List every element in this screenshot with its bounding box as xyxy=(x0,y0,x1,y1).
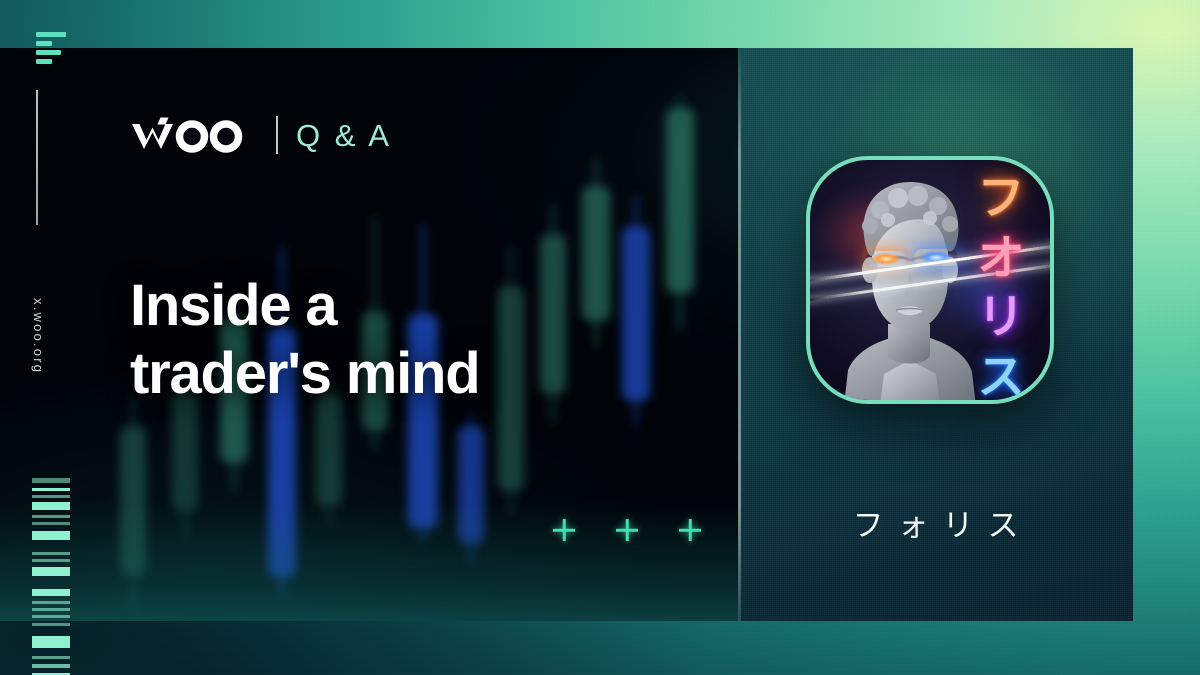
kana-glyph: フ xyxy=(978,174,1025,221)
candlestick xyxy=(666,96,694,621)
candlestick-body xyxy=(316,394,342,506)
kana-glyph: オ xyxy=(978,234,1025,281)
candlestick-body xyxy=(582,186,610,321)
barcode-bar xyxy=(32,615,70,618)
barcode-bar xyxy=(32,531,70,540)
candlestick-body xyxy=(458,426,484,544)
plus-icon xyxy=(553,519,575,541)
barcode-bar xyxy=(32,664,70,668)
poster-canvas: x.woo.org Q & A Inside a trader's mind xyxy=(0,0,1200,675)
kana-glyph: リ xyxy=(978,293,1025,340)
candlestick xyxy=(582,96,610,621)
rail-divider-line xyxy=(36,90,38,225)
candlestick-body xyxy=(172,391,198,511)
barcode-bar xyxy=(32,589,70,596)
left-eye-neon-glow xyxy=(866,251,906,267)
barcode-bar xyxy=(32,552,70,555)
candlestick-body xyxy=(540,234,566,394)
barcode-bar xyxy=(32,656,70,659)
candlestick xyxy=(498,96,524,621)
headline-line-2: trader's mind xyxy=(130,340,480,408)
candlestick xyxy=(622,96,650,621)
candlestick-body xyxy=(498,286,524,491)
section-label: Q & A xyxy=(296,120,392,151)
barcode-bar xyxy=(32,478,70,483)
barcode-bar xyxy=(32,515,70,518)
barcode-bar xyxy=(32,567,70,576)
woo-bars-mark-icon xyxy=(36,32,66,68)
kana-glyph: ス xyxy=(978,353,1025,400)
brand-lockup: Q & A xyxy=(130,115,392,155)
barcode-bar xyxy=(32,495,70,498)
barcode-bar xyxy=(32,488,70,491)
guest-name-caption: フォリス xyxy=(738,500,1133,545)
plus-icon xyxy=(616,519,638,541)
brand-separator xyxy=(276,116,278,154)
barcode-bar xyxy=(32,636,70,648)
page-title: Inside a trader's mind xyxy=(130,272,480,408)
barcode-bar xyxy=(32,601,70,604)
candlestick-body xyxy=(666,108,694,293)
plus-icon xyxy=(679,519,701,541)
barcode-bar xyxy=(32,608,70,611)
decorative-barcode-icon xyxy=(32,478,70,675)
woo-wordmark-icon xyxy=(130,115,258,155)
candlestick-body xyxy=(622,226,650,401)
site-url-vertical: x.woo.org xyxy=(31,298,46,374)
plus-marks-decor xyxy=(553,519,701,541)
candlestick-body xyxy=(120,426,146,576)
barcode-bar xyxy=(32,559,70,562)
headline-line-1: Inside a xyxy=(130,272,480,340)
barcode-bar xyxy=(32,623,70,626)
candlestick xyxy=(540,96,566,621)
guest-avatar[interactable]: フオリス xyxy=(806,156,1054,404)
avatar-kana-column: フオリス xyxy=(964,174,1038,400)
barcode-bar xyxy=(32,502,70,510)
barcode-bar xyxy=(32,522,70,525)
